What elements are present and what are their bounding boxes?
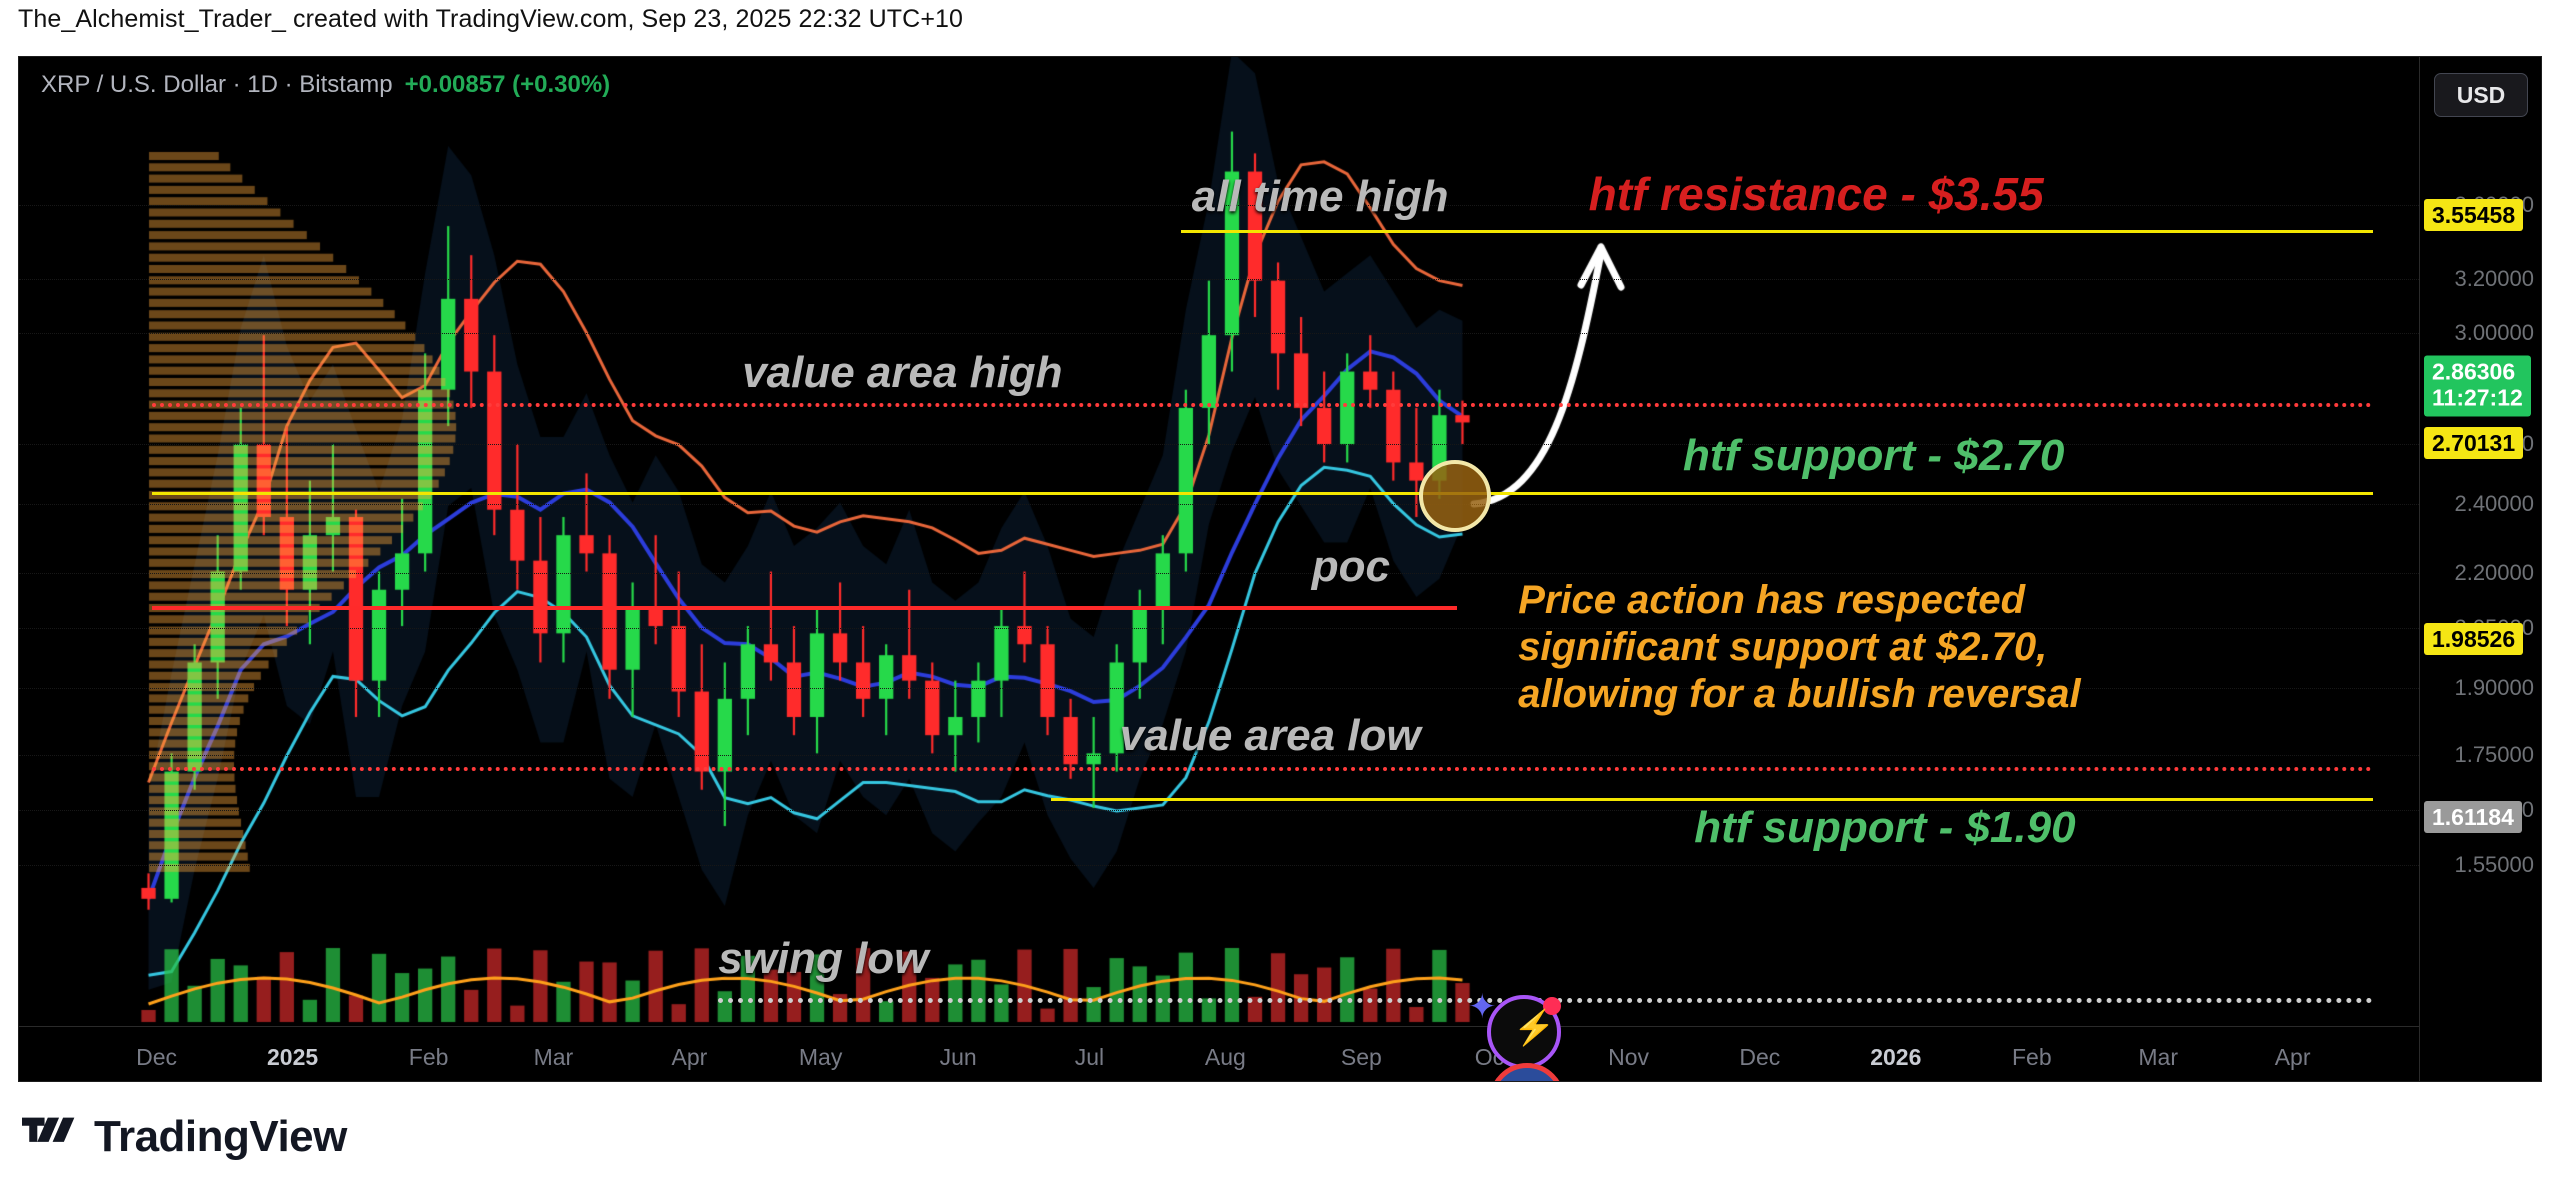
value-area-high-line[interactable] (152, 403, 2373, 407)
price-tick: 1.75000 (2454, 742, 2534, 768)
chart-legend[interactable]: XRP / U.S. Dollar · 1D · Bitstamp+0.0085… (41, 71, 610, 99)
price-tick: 2.20000 (2454, 560, 2534, 586)
price-tick: 3.00000 (2454, 320, 2534, 346)
chart-plot-area[interactable]: all time highhtf resistance - $3.55value… (19, 57, 2419, 1082)
annotation-value-area-low: value area low (1120, 711, 1421, 761)
time-tick: Dec (1739, 1044, 1780, 1071)
price-highlight-label[interactable]: 2.70131 (2424, 427, 2523, 459)
price-axis[interactable]: USD 3.600003.200003.000002.600002.400002… (2419, 57, 2542, 1082)
price-tick: 2.40000 (2454, 491, 2534, 517)
annotation-htf-support-190: htf support - $1.90 (1694, 803, 2075, 853)
annotation-htf-support-270: htf support - $2.70 (1683, 431, 2064, 481)
price-highlight-label[interactable]: 1.98526 (2424, 623, 2523, 655)
time-tick: May (799, 1044, 842, 1071)
grid-line (19, 573, 2419, 574)
time-tick: Dec (136, 1044, 177, 1071)
footer-bar: TradingView (0, 1100, 2560, 1195)
time-tick: Mar (534, 1044, 574, 1071)
htf-support-190-line[interactable] (1051, 798, 2373, 801)
annotation-all-time-high: all time high (1192, 172, 1449, 222)
price-highlight-label[interactable]: 2.8630611:27:12 (2424, 356, 2531, 417)
poc-line[interactable] (152, 606, 1458, 610)
tradingview-logo: TradingView (22, 1112, 347, 1162)
time-tick: Jun (940, 1044, 977, 1071)
annotation-swing-low: swing low (718, 934, 928, 984)
annotation-htf-resistance: htf resistance - $3.55 (1589, 167, 2044, 221)
price-tick: 1.90000 (2454, 675, 2534, 701)
tradingview-mark-icon (22, 1117, 80, 1157)
legend-symbol: XRP / U.S. Dollar · 1D · Bitstamp (41, 71, 393, 98)
grid-line (19, 865, 2419, 866)
htf-support-270-line[interactable] (152, 492, 2373, 495)
time-tick: Apr (671, 1044, 707, 1071)
price-tick: 1.55000 (2454, 852, 2534, 878)
time-tick: Jul (1075, 1044, 1104, 1071)
grid-line (19, 279, 2419, 280)
time-tick: Sep (1341, 1044, 1382, 1071)
current-price-marker[interactable] (1419, 460, 1491, 532)
time-tick: 2025 (267, 1044, 318, 1071)
chart-container[interactable]: all time highhtf resistance - $3.55value… (18, 56, 2542, 1082)
sparkle-icon: ✦ (1468, 987, 1497, 1027)
time-tick: 2026 (1870, 1044, 1921, 1071)
time-tick: Apr (2275, 1044, 2311, 1071)
attribution-text: The_Alchemist_Trader_ created with Tradi… (0, 0, 2560, 38)
time-tick: Mar (2138, 1044, 2178, 1071)
price-highlight-label[interactable]: 3.55458 (2424, 199, 2523, 231)
tradingview-wordmark: TradingView (94, 1112, 347, 1162)
annotation-commentary: Price action has respected significant s… (1518, 577, 2080, 719)
grid-line (19, 333, 2419, 334)
htf-resistance-line[interactable] (1181, 230, 2373, 233)
time-axis[interactable]: Dec2025FebMarAprMayJunJulAugSepOctNovDec… (19, 1026, 2419, 1082)
price-tick: 3.20000 (2454, 266, 2534, 292)
time-tick: Feb (2012, 1044, 2052, 1071)
time-tick: Feb (409, 1044, 449, 1071)
currency-chip[interactable]: USD (2434, 73, 2528, 117)
legend-change: +0.00857 (+0.30%) (405, 71, 611, 98)
price-highlight-label[interactable]: 1.61184 (2424, 801, 2522, 833)
time-tick: Nov (1608, 1044, 1649, 1071)
value-area-low-line[interactable] (152, 767, 2373, 771)
annotation-value-area-high: value area high (742, 348, 1062, 398)
lightning-sticker-icon: ⚡ (1487, 995, 1561, 1069)
grid-line (19, 504, 2419, 505)
annotation-poc: poc (1312, 542, 1390, 592)
time-tick: Aug (1205, 1044, 1246, 1071)
